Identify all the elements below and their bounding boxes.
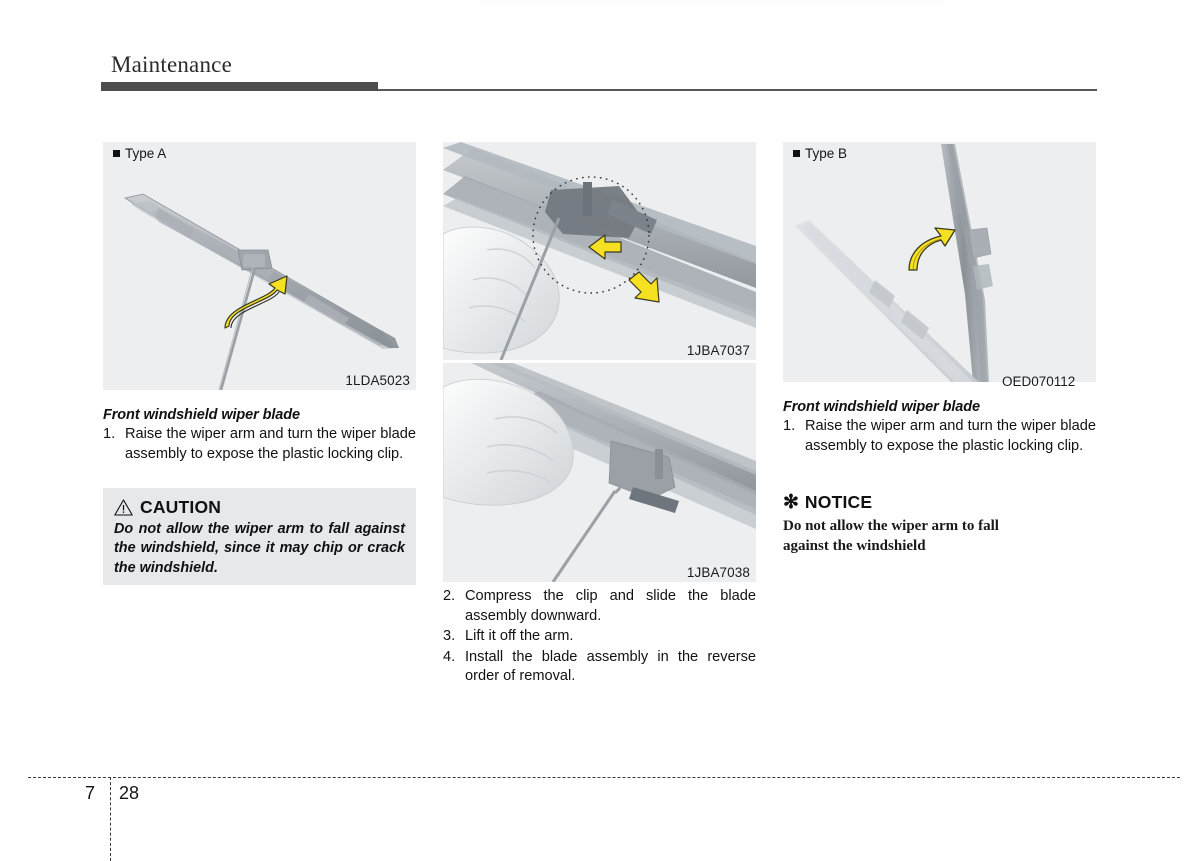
wiper-blade-type-a-illustration [103,142,416,390]
step-number: 3. [443,627,455,647]
middle-step-list: 2.Compress the clip and slide the blade … [443,586,756,687]
right-sub-heading: Front windshield wiper blade [783,399,1096,415]
hand-sliding-blade-illustration [443,363,756,582]
caution-box: CAUTION Do not allow the wiper arm to fa… [103,488,416,585]
footer-vertical-rule [110,777,111,861]
list-item: 1.Raise the wiper arm and turn the wiper… [783,417,1096,456]
scan-artifact-strip [478,0,944,4]
column-right: Type B [783,142,1096,456]
notice-header: ✻ NOTICE [783,492,1096,513]
figure-clip-compress: 1JBA7037 [443,142,756,360]
list-item: 3.Lift it off the arm. [443,627,756,647]
column-left: Type A [103,142,416,464]
list-item: 1.Raise the wiper arm and turn the wiper… [103,425,416,464]
notice-body-line-2: against the windshield [783,536,1096,556]
notice-block: ✻ NOTICE Do not allow the wiper arm to f… [783,492,1096,556]
chapter-number: 7 [85,783,95,804]
figure-type-b-label: Type B [793,146,847,161]
figure-type-b-id: OED070112 [1002,374,1075,389]
asterisk-icon: ✻ [783,493,799,512]
list-item: 4.Install the blade assembly in the reve… [443,648,756,687]
step-number: 1. [103,425,115,445]
figure-blade-slide-id: 1JBA7038 [687,565,750,580]
figure-type-a-label-text: Type A [125,146,166,161]
left-sub-heading: Front windshield wiper blade [103,407,416,423]
figure-type-a: Type A [103,142,416,390]
step-number: 4. [443,648,455,668]
step-text: Raise the wiper arm and turn the wiper b… [805,418,1096,454]
right-step-list: 1.Raise the wiper arm and turn the wiper… [783,417,1096,456]
left-step-list: 1.Raise the wiper arm and turn the wiper… [103,425,416,464]
step-number: 1. [783,417,795,437]
caution-body: Do not allow the wiper arm to fall again… [114,520,405,578]
step-text: Raise the wiper arm and turn the wiper b… [125,426,416,462]
step-text: Compress the clip and slide the blade as… [465,588,756,624]
bullet-square-icon [793,150,800,157]
step-text: Lift it off the arm. [465,628,573,644]
bullet-square-icon [113,150,120,157]
warning-triangle-icon [114,499,133,516]
figure-type-b-label-text: Type B [805,146,847,161]
figure-type-a-id: 1LDA5023 [345,373,410,388]
notice-body-line-1: Do not allow the wiper arm to fall [783,516,1096,536]
hand-compressing-clip-illustration [443,142,756,360]
notice-title: NOTICE [805,492,872,513]
caution-header: CAUTION [114,497,405,518]
figure-type-a-label: Type A [113,146,166,161]
wiper-blade-type-b-illustration [783,142,1096,382]
step-number: 2. [443,587,455,607]
header-rule-thick [101,82,378,91]
figure-blade-slide: 1JBA7038 [443,363,756,582]
page-number: 28 [119,783,139,804]
step-text: Install the blade assembly in the revers… [465,649,756,685]
figure-type-b: Type B [783,142,1096,382]
page-title: Maintenance [111,52,232,78]
figure-clip-compress-id: 1JBA7037 [687,343,750,358]
footer-horizontal-rule [28,777,1180,778]
caution-title: CAUTION [140,497,221,518]
header-rule-thin [378,89,1097,91]
column-middle: 1JBA7037 [443,142,756,582]
middle-steps: 2.Compress the clip and slide the blade … [443,587,756,687]
list-item: 2.Compress the clip and slide the blade … [443,587,756,626]
